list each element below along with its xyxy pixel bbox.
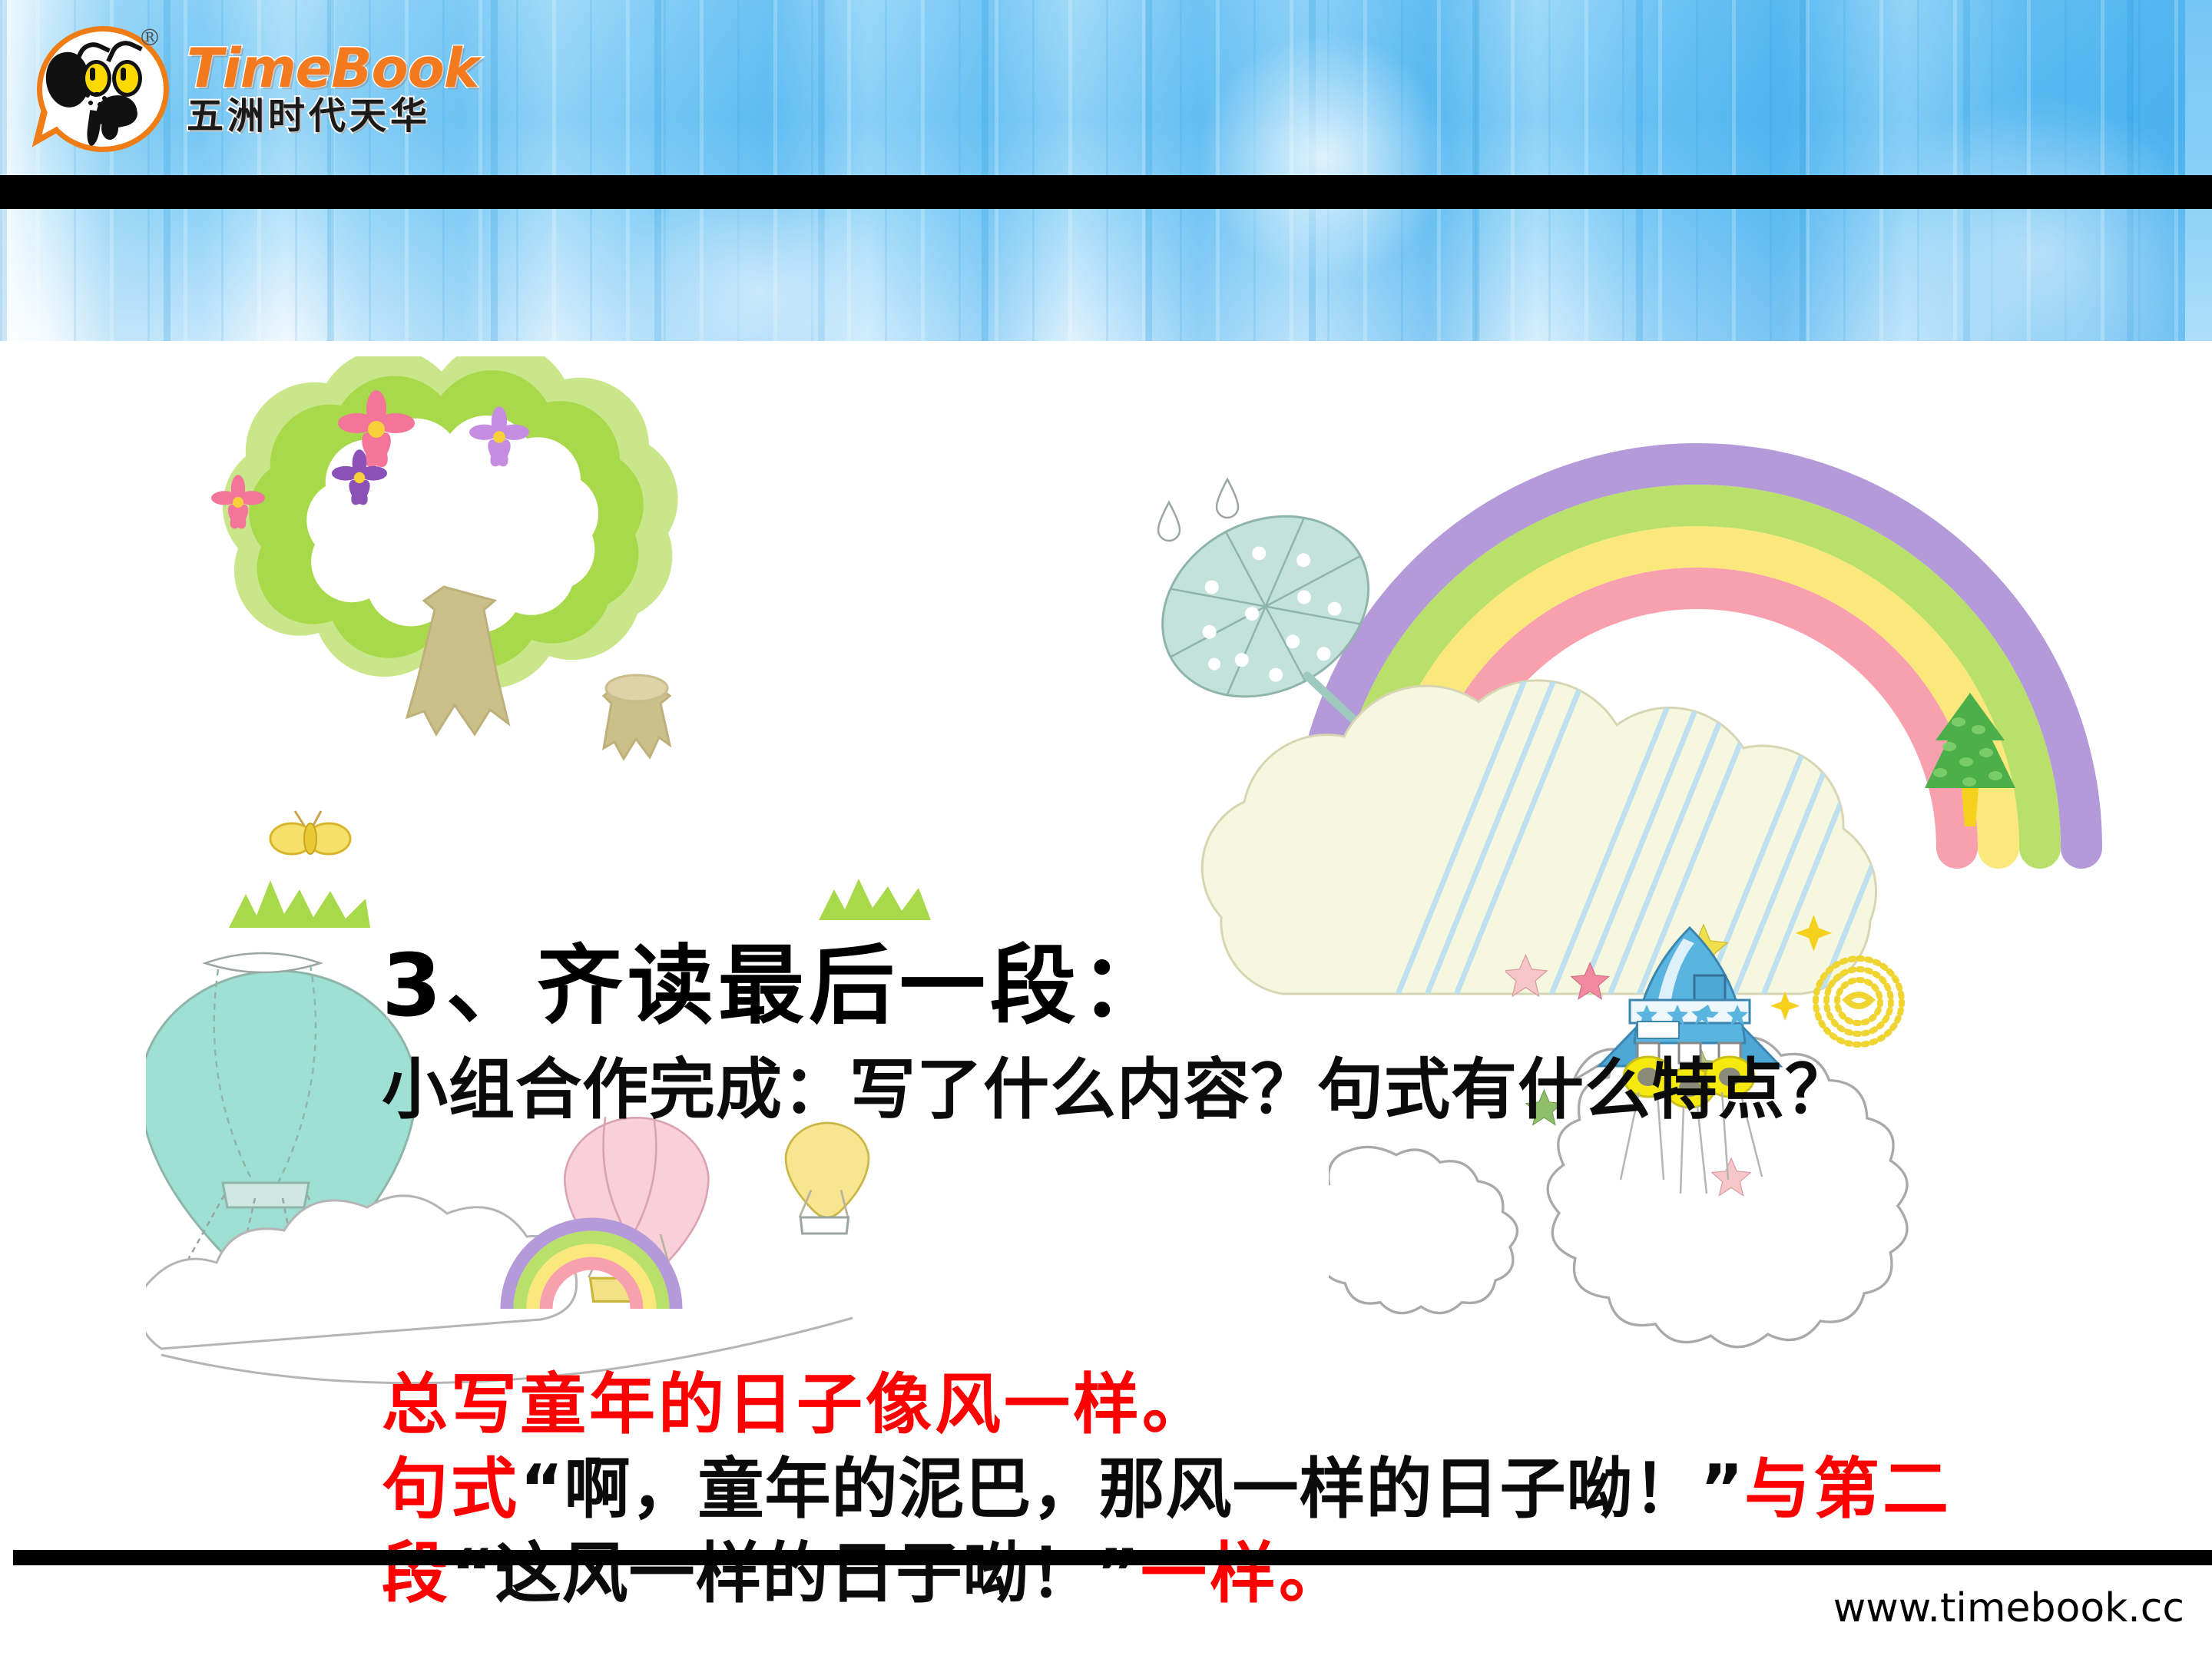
footer-black-rule	[13, 1550, 2212, 1565]
slide-text-layer: 3、齐读最后一段： 小组合作完成：写了什么内容？句式有什么特点？ 总写童年的日子…	[0, 341, 2212, 1659]
answer-conclusion-red: 一样。	[1141, 1535, 1348, 1612]
header-black-rule	[0, 175, 2212, 209]
logo-wordmark-en: TimeBook	[187, 41, 478, 95]
answer-sentence-pattern-label: 句式	[382, 1451, 520, 1528]
timebook-logo[interactable]: ® TimeBook 五洲时代天华	[31, 22, 507, 156]
answer-summary-red: 总写童年的日子像风一样。	[382, 1366, 1211, 1443]
answer-quote-one: “啊，童年的泥巴，那风一样的日子呦！”	[520, 1451, 1744, 1528]
footer-website-url[interactable]: www.timebook.cc	[1833, 1585, 2184, 1631]
logo-wordmark-cn: 五洲时代天华	[187, 97, 478, 135]
dog-speech-bubble-icon: ®	[31, 22, 173, 156]
page-title: 3、齐读最后一段：	[382, 942, 1171, 1032]
slide-answer-text: 总写童年的日子像风一样。 句式“啊，童年的泥巴，那风一样的日子呦！”与第二段“这…	[382, 1363, 2071, 1616]
slide-content-area: 3、齐读最后一段： 小组合作完成：写了什么内容？句式有什么特点？ 总写童年的日子…	[0, 341, 2212, 1659]
slide-subtitle: 小组合作完成：写了什么内容？句式有什么特点？	[382, 1051, 2018, 1129]
answer-quote-two: “这风一样的日子呦！”	[451, 1535, 1141, 1612]
registered-mark: ®	[138, 25, 161, 51]
header-glow-1	[1198, 31, 1452, 284]
